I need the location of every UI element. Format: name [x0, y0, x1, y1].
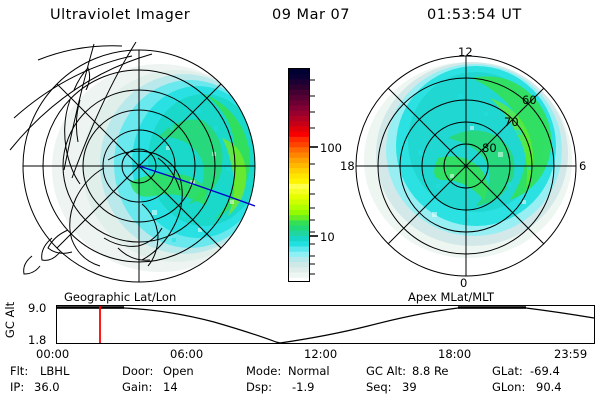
colorbar-swatch [289, 215, 309, 221]
status-door-value: Open [163, 364, 194, 378]
status-glon-label: GLon: [492, 380, 525, 394]
mlt-label-0: 0 [460, 276, 467, 290]
apex-polar-plot[interactable]: 12 6 0 18 60 70 80 [340, 42, 592, 290]
time-tick-0000: 00:00 [36, 347, 69, 360]
colorbar-swatch [289, 184, 309, 190]
colorbar-swatch [289, 79, 309, 85]
colorbar-swatch [289, 262, 309, 268]
colorbar-tick-10: 10 [320, 230, 335, 244]
colorbar-swatch [289, 132, 309, 138]
colorbar-swatch [289, 194, 309, 200]
colorbar-swatch [289, 95, 309, 101]
colorbar-swatch [289, 205, 309, 211]
colorbar-swatch [289, 121, 309, 127]
colorbar-swatch [289, 90, 309, 96]
status-glat-value: -69.4 [530, 364, 560, 378]
status-gcalt-label: GC Alt: [366, 364, 406, 378]
gc-alt-tick-min: 1.8 [28, 333, 46, 347]
geographic-polar-plot[interactable] [8, 42, 270, 290]
colorbar-swatch [289, 137, 309, 143]
colorbar-swatch [289, 220, 309, 226]
apex-plot-svg: 12 6 0 18 60 70 80 [340, 42, 592, 290]
colorbar-swatch [289, 158, 309, 164]
colorbar-swatch [289, 278, 309, 283]
colorbar-swatch [289, 74, 309, 80]
colorbar-swatch [289, 189, 309, 195]
colorbar-swatch [289, 267, 309, 273]
colorbar-swatch [289, 236, 309, 242]
status-footer: Flt: LBHL Door: Open Mode: Normal GC Alt… [0, 364, 600, 398]
colorbar-swatch [289, 179, 309, 185]
colorbar-axis-label-wrap: photon cm-2s-1 [268, 95, 288, 245]
colorbar-swatch [289, 226, 309, 232]
mlat-label-60: 60 [522, 93, 537, 107]
status-mode-value: Normal [288, 364, 330, 378]
time-tick-1200: 12:00 [304, 347, 337, 360]
status-dsp-label: Dsp: [246, 380, 272, 394]
apex-grid [356, 56, 576, 276]
colorbar-swatch [289, 257, 309, 263]
colorbar-swatch [289, 210, 309, 216]
time-tick-2359: 23:59 [554, 347, 587, 360]
orbit-altitude-panel[interactable]: 9.0 1.8 00:00 06:00 12:00 18:00 23:59 [28, 300, 596, 360]
colorbar-swatch [289, 116, 309, 122]
status-dsp-value: -1.9 [292, 380, 314, 394]
status-ip-value: 36.0 [34, 380, 60, 394]
colorbar-swatch [289, 111, 309, 117]
status-gcalt-value: 8.8 Re [412, 364, 449, 378]
status-flt-label: Flt: [10, 364, 28, 378]
mlt-label-6: 6 [579, 159, 586, 173]
observation-date: 09 Mar 07 [272, 7, 350, 23]
colorbar-swatch [289, 147, 309, 153]
colorbar-swatch [289, 252, 309, 258]
colorbar-swatch [289, 199, 309, 205]
status-gain-value: 14 [163, 380, 178, 394]
uvi-display: Ultraviolet Imager 09 Mar 07 01:53:54 UT [0, 0, 600, 400]
altitude-trace [57, 308, 594, 343]
colorbar-gradient [289, 69, 309, 283]
status-ip-label: IP: [10, 380, 24, 394]
mlat-label-80: 80 [482, 141, 497, 155]
geographic-plot-svg [8, 42, 270, 290]
observation-time: 01:53:54 UT [427, 7, 522, 23]
colorbar-swatch [289, 273, 309, 279]
status-glon-value: 90.4 [536, 380, 562, 394]
colorbar-swatch [289, 106, 309, 112]
colorbar-ticks [309, 80, 318, 274]
status-seq-value: 39 [402, 380, 417, 394]
colorbar-swatch [289, 142, 309, 148]
status-glat-label: GLat: [492, 364, 523, 378]
time-tick-1800: 18:00 [438, 347, 471, 360]
mlat-label-70: 70 [504, 115, 519, 129]
status-door-label: Door: [122, 364, 153, 378]
status-flt-value: LBHL [40, 364, 69, 378]
colorbar-swatch [289, 173, 309, 179]
colorbar-swatch [289, 69, 309, 75]
status-mode-label: Mode: [246, 364, 281, 378]
status-gain-label: Gain: [122, 380, 152, 394]
mlt-label-12: 12 [458, 45, 473, 59]
colorbar-tick-100: 100 [320, 141, 342, 155]
gc-alt-axis-label-wrap: GC Alt [0, 300, 30, 346]
colorbar-swatch [289, 126, 309, 132]
time-tick-0600: 06:00 [170, 347, 203, 360]
colorbar-swatch [289, 163, 309, 169]
gc-alt-tick-max: 9.0 [28, 301, 46, 315]
colorbar-swatch [289, 85, 309, 91]
colorbar-swatch [289, 153, 309, 159]
status-seq-label: Seq: [366, 380, 392, 394]
page-title: Ultraviolet Imager [50, 7, 190, 23]
colorbar-swatch [289, 246, 309, 252]
gc-alt-axis-label: GC Alt [3, 287, 17, 353]
orbit-panel-svg: 9.0 1.8 00:00 06:00 12:00 18:00 23:59 [28, 300, 596, 360]
mlt-label-18: 18 [340, 159, 355, 173]
colorbar-swatch [289, 168, 309, 174]
colorbar-swatch [289, 100, 309, 106]
colorbar-swatch [289, 241, 309, 247]
colorbar-swatch [289, 231, 309, 237]
